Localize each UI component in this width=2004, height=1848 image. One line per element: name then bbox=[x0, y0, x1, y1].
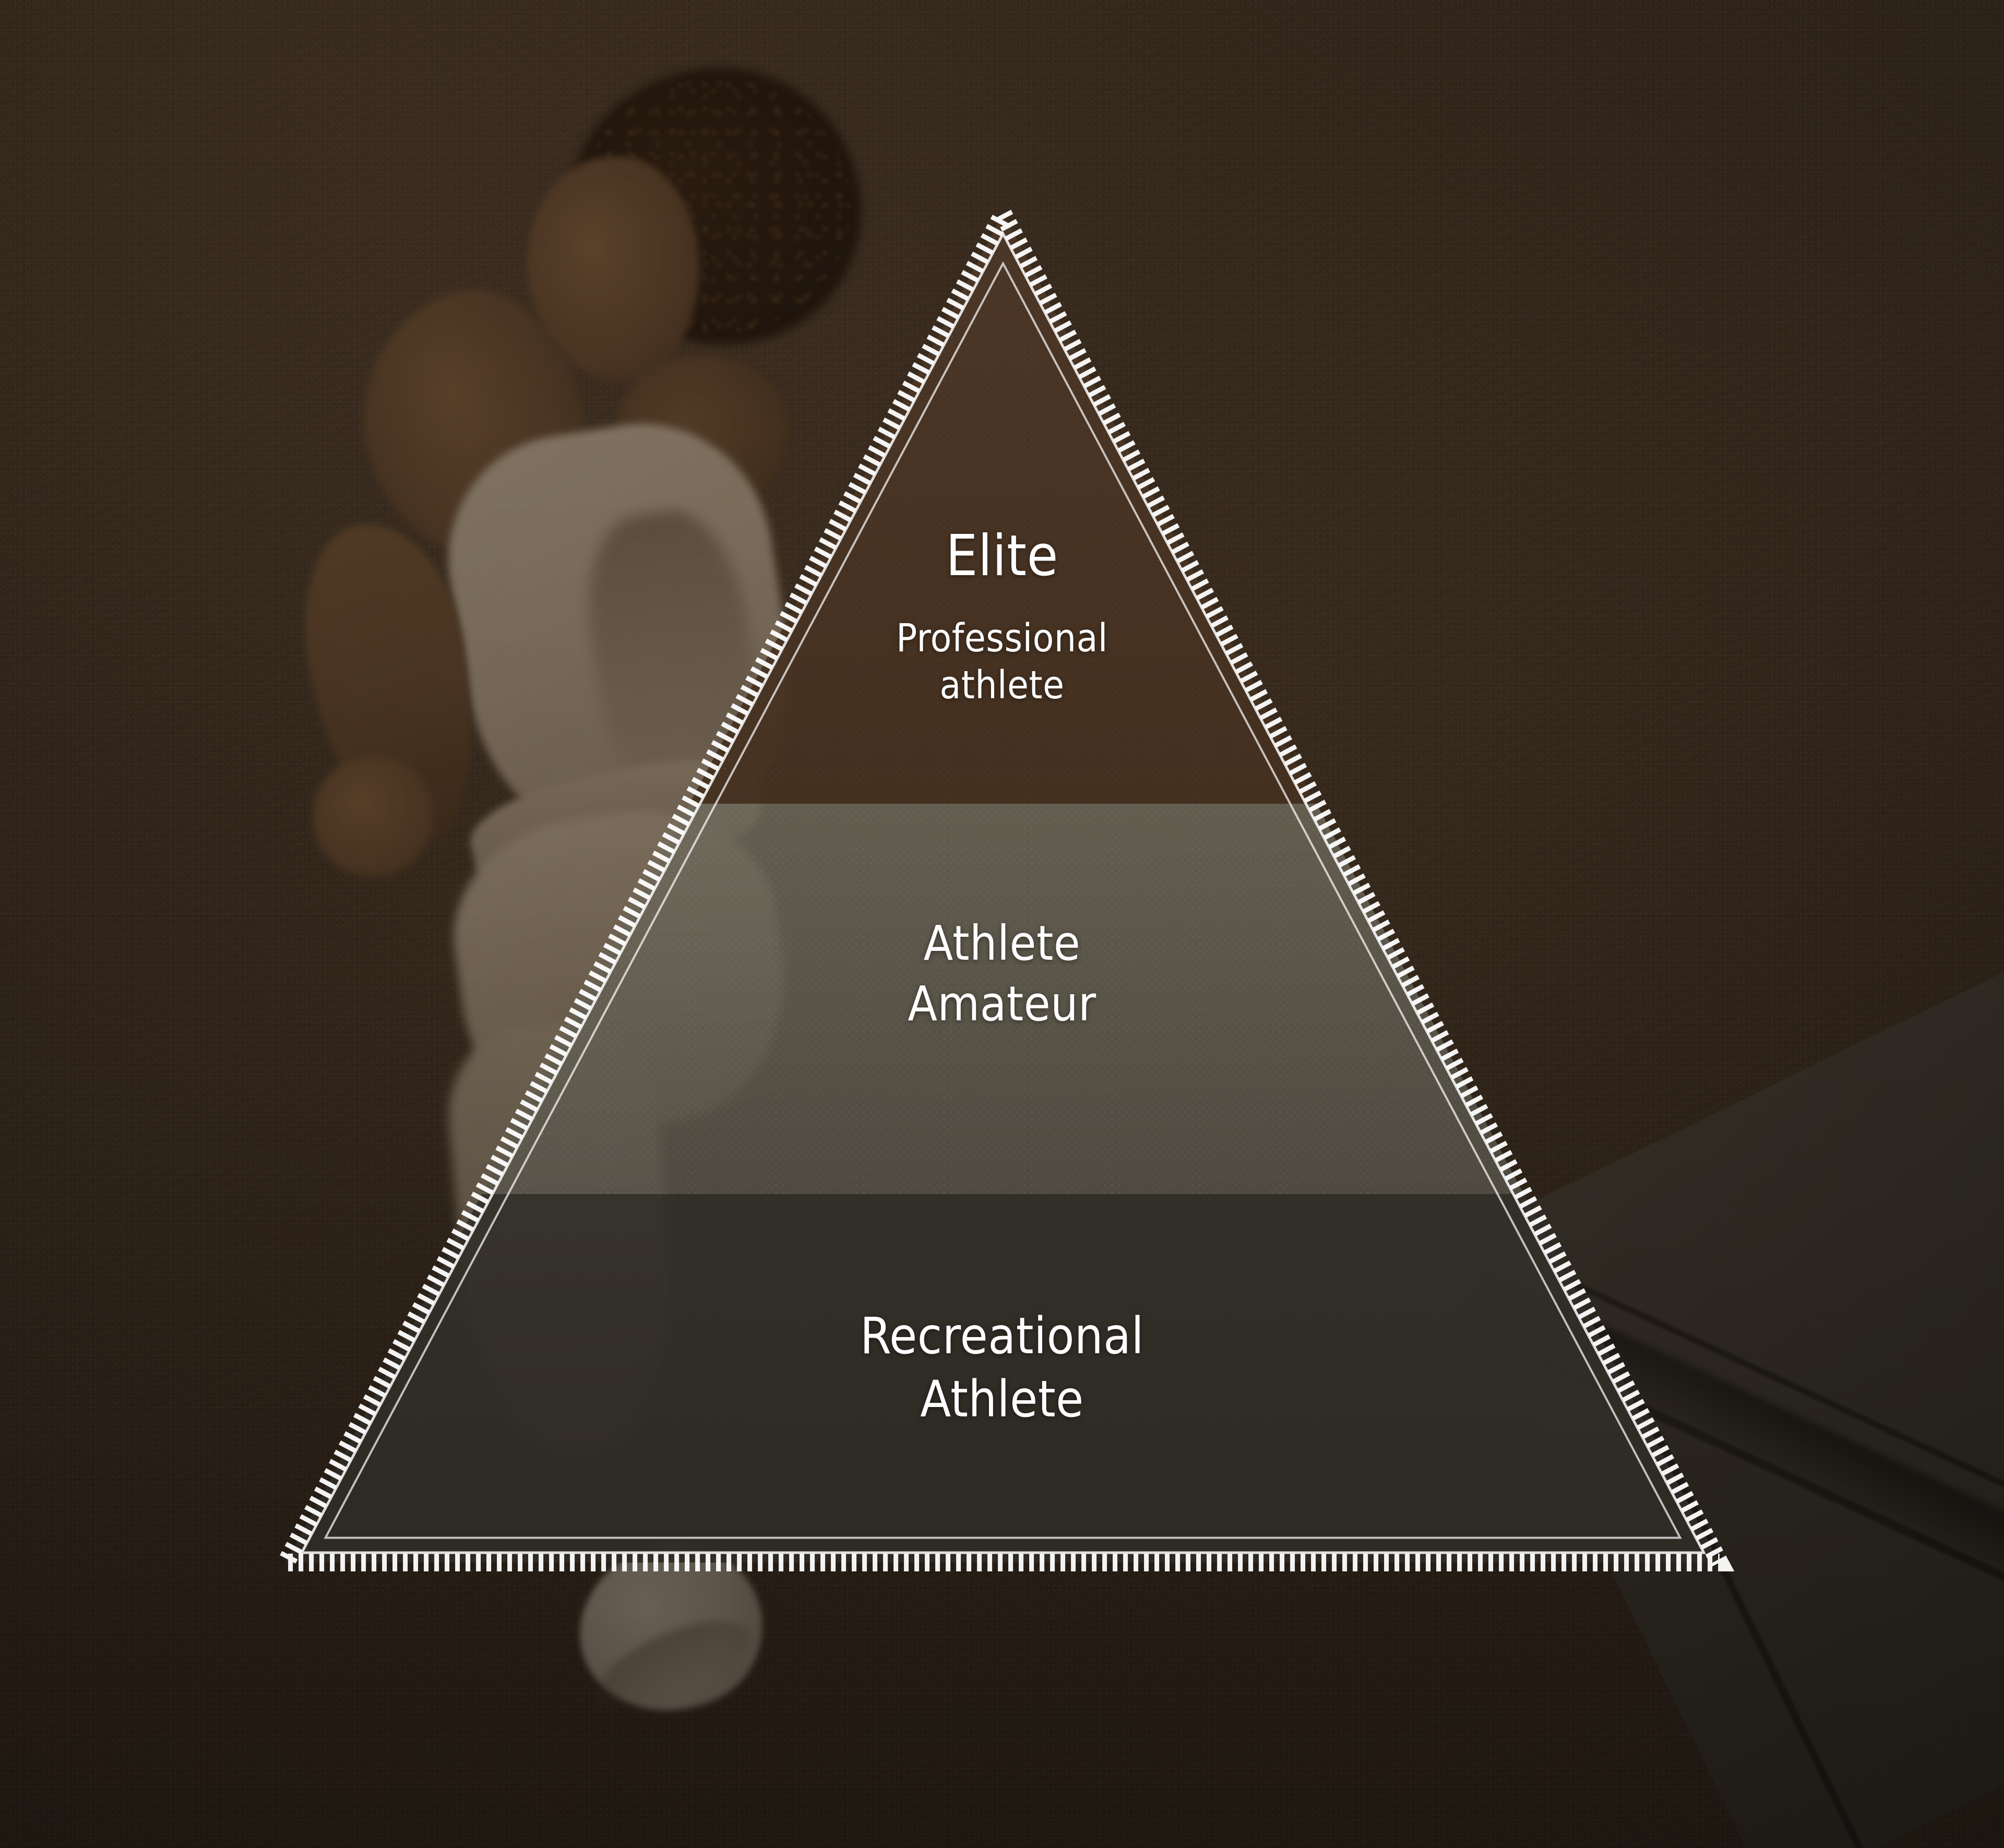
tier-elite-subtitle-line-1: Professional bbox=[0, 615, 2004, 662]
tier-recreational-line-2: Athlete bbox=[0, 1368, 2004, 1431]
tier-amateur-label: Athlete Amateur bbox=[0, 913, 2004, 1034]
tier-amateur-line-2: Amateur bbox=[0, 974, 2004, 1034]
tier-elite-subtitle-line-2: athlete bbox=[0, 662, 2004, 709]
tier-elite-title: Elite bbox=[0, 528, 2004, 585]
tier-amateur-line-1: Athlete bbox=[0, 913, 2004, 974]
tier-recreational-line-1: Recreational bbox=[0, 1305, 2004, 1368]
tier-elite-subtitle: Professional athlete bbox=[0, 615, 2004, 709]
pyramid-infographic: Elite Professional athlete Athlete Amate… bbox=[0, 0, 2004, 1848]
tier-recreational-label: Recreational Athlete bbox=[0, 1305, 2004, 1431]
